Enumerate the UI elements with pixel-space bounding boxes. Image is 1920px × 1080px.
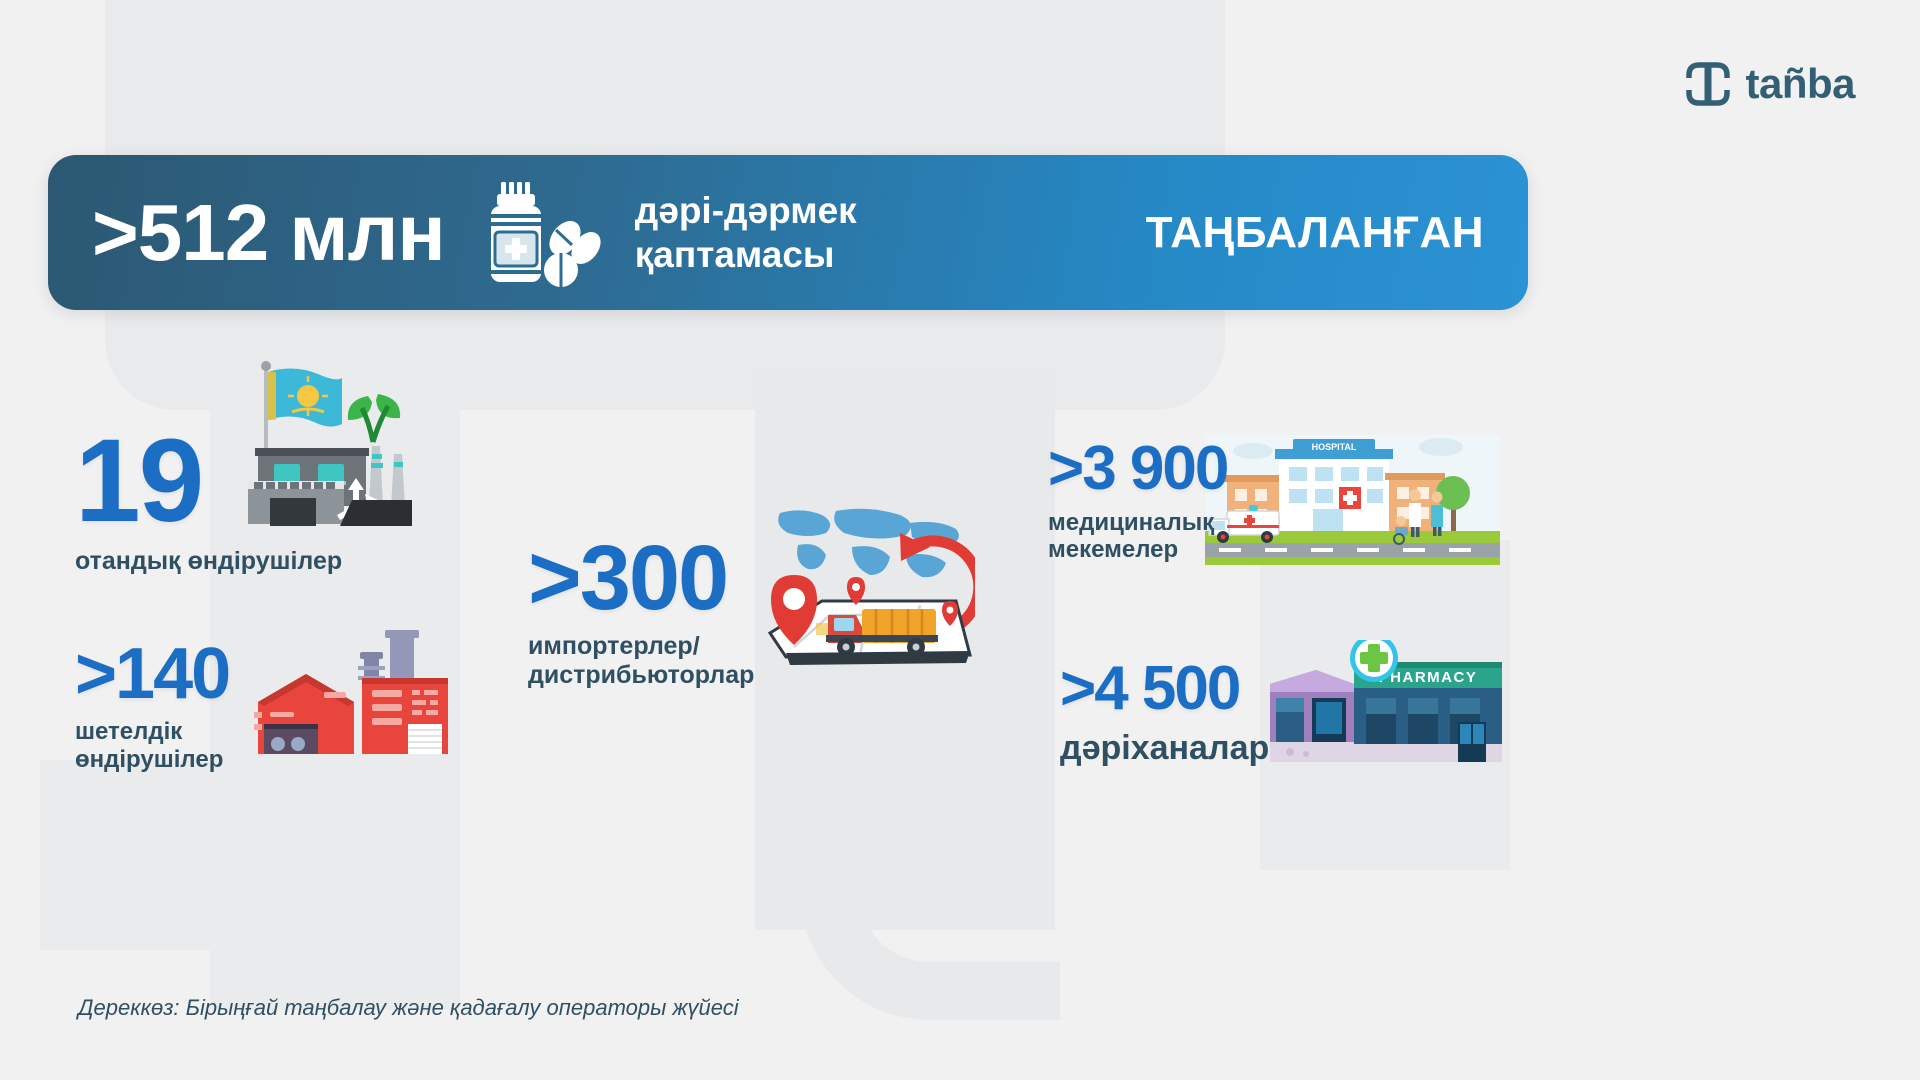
hospital-ambulance-icon: HOSPITAL xyxy=(1205,435,1500,565)
stat-importers-distributors: >300 импортерлер/ дистрибьюторлар xyxy=(528,535,754,690)
stat-domestic-manufacturers: 19 отандық өндірушілер xyxy=(75,425,342,576)
banner-total-packages-value: >512 млн xyxy=(92,193,445,273)
red-factory-icon xyxy=(240,630,455,755)
stat-value: 19 xyxy=(75,425,342,537)
stat-value: >300 xyxy=(528,535,754,622)
stat-value: >4 500 xyxy=(1060,660,1269,719)
logo-wordmark: tañba xyxy=(1745,60,1855,108)
banner-status-label: ТАҢБАЛАНҒАН xyxy=(1146,208,1484,258)
pill-bottle-icon xyxy=(473,178,613,288)
source-note: Дереккөз: Бірыңғай таңбалау және қадағал… xyxy=(78,995,739,1021)
world-map-truck-logistics-icon xyxy=(760,505,975,670)
banner-subject-text: дәрі-дәрмек қаптамасы xyxy=(635,189,857,276)
background-watermark-bar xyxy=(975,620,1033,920)
brand-logo: tañba xyxy=(1685,60,1855,108)
stat-value: >140 xyxy=(75,640,229,708)
stat-value: >3 900 xyxy=(1048,440,1227,499)
stat-foreign-manufacturers: >140 шетелдік өндірушілер xyxy=(75,640,229,774)
stat-pharmacies: >4 500 дәріханалар xyxy=(1060,660,1269,768)
stat-medical-institutions: >3 900 медициналық мекемелер xyxy=(1048,440,1227,564)
stat-label: импортерлер/ дистрибьюторлар xyxy=(528,632,754,690)
background-block-lower-left xyxy=(40,760,330,950)
tanba-mark-icon xyxy=(1685,61,1731,107)
stat-label: отандық өндірушілер xyxy=(75,547,342,576)
stat-label: шетелдік өндірушілер xyxy=(75,718,229,773)
pharmacy-storefront-icon: PHARMACY xyxy=(1262,640,1502,770)
stat-label: дәріханалар xyxy=(1060,729,1269,768)
stat-label: медициналық мекемелер xyxy=(1048,509,1227,564)
svg-text:HOSPITAL: HOSPITAL xyxy=(1312,442,1357,452)
headline-banner: >512 млн xyxy=(48,155,1528,310)
